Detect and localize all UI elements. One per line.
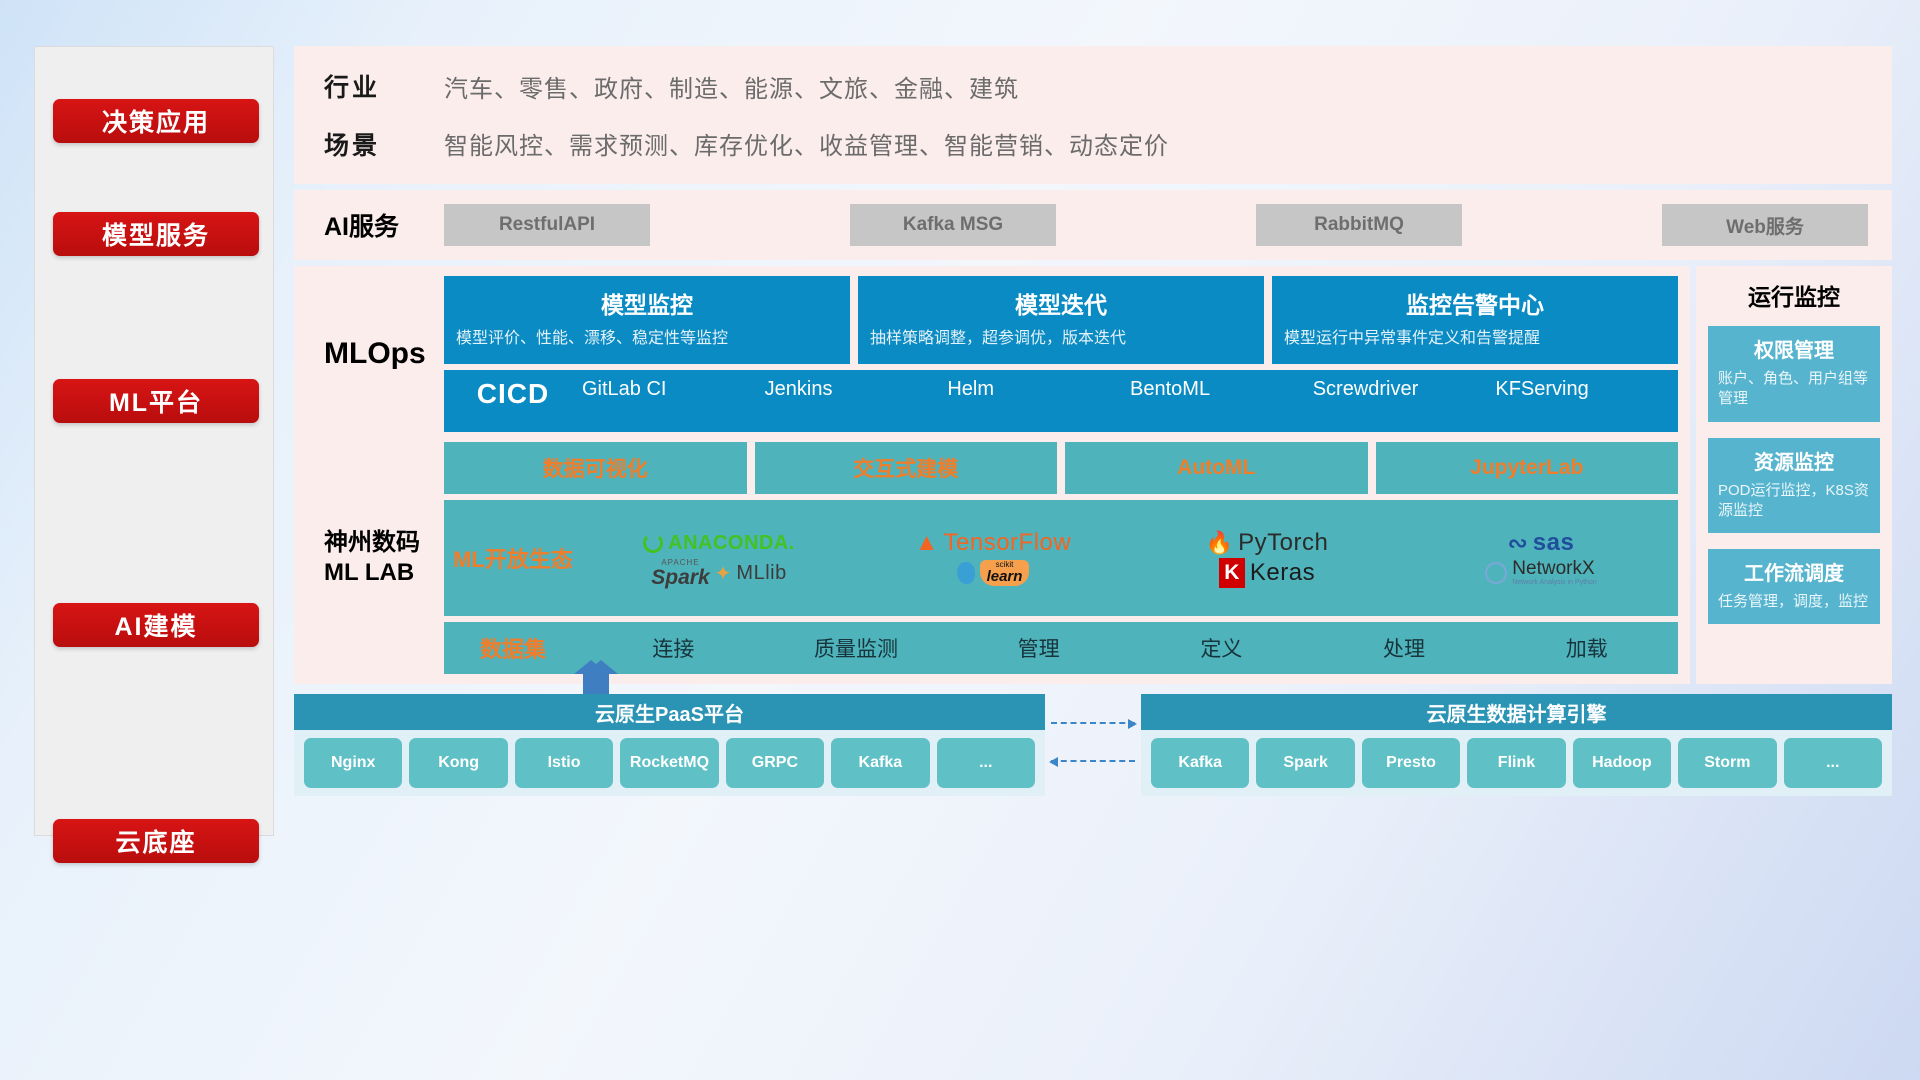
rail-tag-model-service[interactable]: 模型服务 bbox=[53, 212, 259, 256]
mlops-card-title: 监控告警中心 bbox=[1284, 286, 1666, 320]
anaconda-ring-icon bbox=[643, 533, 663, 553]
mlops-card-desc: 模型评价、性能、漂移、稳定性等监控 bbox=[456, 328, 838, 350]
rail-tag-ml-platform[interactable]: ML平台 bbox=[53, 379, 259, 423]
monitor-card-title: 工作流调度 bbox=[1718, 557, 1870, 586]
sas-swirl-icon: ∾ bbox=[1508, 529, 1528, 558]
paas-chip-kong[interactable]: Kong bbox=[409, 738, 507, 788]
paas-chip-more[interactable]: ... bbox=[937, 738, 1035, 788]
monitor-card-title: 权限管理 bbox=[1718, 334, 1870, 363]
monitor-card-desc: 账户、角色、用户组等管理 bbox=[1718, 369, 1870, 410]
networkx-graph-icon bbox=[1485, 562, 1507, 584]
dataset-item-quality[interactable]: 质量监测 bbox=[765, 633, 948, 663]
dataset-item-define[interactable]: 定义 bbox=[1130, 633, 1313, 663]
mllib-logo-text: MLlib bbox=[736, 562, 786, 585]
data-engine-title: 云原生数据计算引擎 bbox=[1141, 694, 1892, 730]
monitor-card-resource[interactable]: 资源监控 POD运行监控，K8S资源监控 bbox=[1708, 438, 1880, 534]
paas-chip-grpc[interactable]: GRPC bbox=[726, 738, 824, 788]
cicd-row: CICD GitLab CI Jenkins Helm BentoML Scre… bbox=[444, 370, 1678, 432]
layer-rail: 决策应用 模型服务 ML平台 AI建模 云底座 bbox=[34, 46, 274, 836]
scikit-learn-text: learn bbox=[987, 569, 1023, 584]
main-column: 行业 场景 汽车、零售、政府、制造、能源、文旅、金融、建筑 智能风控、需求预测、… bbox=[294, 46, 1892, 1050]
ml-ecosystem-label: ML开放生态 bbox=[444, 542, 582, 574]
anaconda-logo: ANACONDA. bbox=[643, 532, 795, 555]
dataset-item-process[interactable]: 处理 bbox=[1313, 633, 1496, 663]
arrow-left-icon bbox=[1051, 760, 1135, 762]
paas-chip-list: Nginx Kong Istio RocketMQ GRPC Kafka ... bbox=[294, 730, 1045, 796]
engine-chip-flink[interactable]: Flink bbox=[1467, 738, 1565, 788]
pytorch-flame-icon: 🔥 bbox=[1206, 532, 1233, 554]
pytorch-logo: 🔥 PyTorch bbox=[1206, 529, 1329, 557]
ml-ecosystem-row: ML开放生态 ANACONDA. ▲ TensorFlow bbox=[444, 500, 1678, 616]
spark-mllib-logo: APACHE Spark ✦ MLlib bbox=[651, 559, 786, 588]
engine-chip-storm[interactable]: Storm bbox=[1678, 738, 1776, 788]
modeling-tabs: 数据可视化 交互式建模 AutoML JupyterLab bbox=[444, 442, 1678, 494]
scikit-learn-pill: scikit learn bbox=[980, 560, 1030, 586]
industry-value: 汽车、零售、政府、制造、能源、文旅、金融、建筑 bbox=[444, 69, 1169, 104]
paas-chip-kafka[interactable]: Kafka bbox=[831, 738, 929, 788]
pytorch-logo-text: PyTorch bbox=[1238, 529, 1328, 557]
scikit-learn-logo: scikit learn bbox=[957, 560, 1030, 586]
engine-chip-presto[interactable]: Presto bbox=[1362, 738, 1460, 788]
dataset-label: 数据集 bbox=[444, 632, 582, 664]
engine-chip-spark[interactable]: Spark bbox=[1256, 738, 1354, 788]
industry-values: 汽车、零售、政府、制造、能源、文旅、金融、建筑 智能风控、需求预测、库存优化、收… bbox=[444, 69, 1169, 161]
monitor-card-title: 资源监控 bbox=[1718, 446, 1870, 475]
ai-service-chips: RestfulAPI Kafka MSG RabbitMQ Web服务 bbox=[444, 204, 1868, 246]
mlops-cards: 模型监控 模型评价、性能、漂移、稳定性等监控 模型迭代 抽样策略调整，超参调优，… bbox=[444, 276, 1678, 364]
cloud-base-section: 云原生PaaS平台 Nginx Kong Istio RocketMQ GRPC… bbox=[294, 694, 1892, 812]
paas-chip-rocketmq[interactable]: RocketMQ bbox=[620, 738, 718, 788]
tab-automl[interactable]: AutoML bbox=[1065, 442, 1368, 494]
paas-platform-block: 云原生PaaS平台 Nginx Kong Istio RocketMQ GRPC… bbox=[294, 694, 1045, 796]
tab-interactive-modeling[interactable]: 交互式建模 bbox=[755, 442, 1058, 494]
ai-chip-restfulapi[interactable]: RestfulAPI bbox=[444, 204, 650, 246]
scenario-label: 场景 bbox=[324, 126, 444, 162]
industry-label: 行业 bbox=[324, 68, 444, 104]
tensorflow-logo: ▲ TensorFlow bbox=[915, 529, 1071, 557]
mlops-card-title: 模型迭代 bbox=[870, 286, 1252, 320]
networkx-logo-text: NetworkX bbox=[1512, 559, 1596, 579]
ai-service-title: AI服务 bbox=[324, 207, 444, 243]
ai-chip-web-service[interactable]: Web服务 bbox=[1662, 204, 1868, 246]
cicd-item-bentoml[interactable]: BentoML bbox=[1130, 378, 1313, 401]
runtime-monitor-title: 运行监控 bbox=[1708, 278, 1880, 312]
mlops-section: MLOps 模型监控 模型评价、性能、漂移、稳定性等监控 模型迭代 抽样策略调整… bbox=[294, 266, 1892, 684]
keras-logo: K Keras bbox=[1219, 558, 1315, 588]
anaconda-logo-text: ANACONDA. bbox=[668, 532, 795, 555]
spark-logo-text: Spark bbox=[651, 567, 709, 588]
rail-tag-decision-app[interactable]: 决策应用 bbox=[53, 99, 259, 143]
monitor-card-permission[interactable]: 权限管理 账户、角色、用户组等管理 bbox=[1708, 326, 1880, 422]
mlops-band: MLOps 模型监控 模型评价、性能、漂移、稳定性等监控 模型迭代 抽样策略调整… bbox=[294, 266, 1690, 684]
mlops-card-desc: 模型运行中异常事件定义和告警提醒 bbox=[1284, 328, 1666, 350]
rail-tag-cloud-base[interactable]: 云底座 bbox=[53, 819, 259, 863]
mlops-card-model-monitor[interactable]: 模型监控 模型评价、性能、漂移、稳定性等监控 bbox=[444, 276, 850, 364]
modeling-title-line1: 神州数码 bbox=[324, 529, 420, 556]
dataset-item-connect[interactable]: 连接 bbox=[582, 633, 765, 663]
spark-star-icon: ✦ bbox=[715, 561, 732, 586]
paas-platform-title: 云原生PaaS平台 bbox=[294, 694, 1045, 730]
cicd-item-kfserving[interactable]: KFServing bbox=[1495, 378, 1678, 401]
scikit-blob-icon bbox=[957, 562, 975, 584]
networkx-logo: NetworkX Network Analysis in Python bbox=[1485, 559, 1596, 586]
runtime-monitor-panel: 运行监控 权限管理 账户、角色、用户组等管理 资源监控 POD运行监控，K8S资… bbox=[1696, 266, 1892, 684]
engine-chip-hadoop[interactable]: Hadoop bbox=[1573, 738, 1671, 788]
rail-tag-ai-modeling[interactable]: AI建模 bbox=[53, 603, 259, 647]
ai-service-band: AI服务 RestfulAPI Kafka MSG RabbitMQ Web服务 bbox=[294, 190, 1892, 260]
paas-chip-nginx[interactable]: Nginx bbox=[304, 738, 402, 788]
modeling-band: 神州数码 ML LAB 数据可视化 交互式建模 AutoML JupyterLa… bbox=[324, 442, 1678, 674]
paas-chip-istio[interactable]: Istio bbox=[515, 738, 613, 788]
mlops-card-alert-center[interactable]: 监控告警中心 模型运行中异常事件定义和告警提醒 bbox=[1272, 276, 1678, 364]
sas-logo-text: sas bbox=[1533, 529, 1575, 557]
modeling-title-line2: ML LAB bbox=[324, 559, 414, 586]
monitor-card-workflow[interactable]: 工作流调度 任务管理，调度，监控 bbox=[1708, 549, 1880, 624]
mlops-title: MLOps bbox=[324, 276, 444, 432]
keras-logo-text: Keras bbox=[1250, 559, 1315, 587]
mlops-card-title: 模型监控 bbox=[456, 286, 838, 320]
cicd-item-helm[interactable]: Helm bbox=[947, 378, 1130, 401]
arrow-right-icon bbox=[1051, 722, 1135, 724]
engine-up-arrow-icon bbox=[584, 660, 618, 694]
sas-logo: ∾ sas bbox=[1508, 529, 1575, 558]
dataset-item-load[interactable]: 加载 bbox=[1495, 633, 1678, 663]
engine-chip-more[interactable]: ... bbox=[1784, 738, 1882, 788]
mlops-card-model-iteration[interactable]: 模型迭代 抽样策略调整，超参调优，版本迭代 bbox=[858, 276, 1264, 364]
industry-scenario-band: 行业 场景 汽车、零售、政府、制造、能源、文旅、金融、建筑 智能风控、需求预测、… bbox=[294, 46, 1892, 184]
engine-chip-list: Kafka Spark Presto Flink Hadoop Storm ..… bbox=[1141, 730, 1892, 796]
ai-chip-kafka-msg[interactable]: Kafka MSG bbox=[850, 204, 1056, 246]
tab-data-visualization[interactable]: 数据可视化 bbox=[444, 442, 747, 494]
tensorflow-logo-text: TensorFlow bbox=[944, 529, 1072, 557]
monitor-card-desc: 任务管理，调度，监控 bbox=[1718, 592, 1870, 612]
ai-chip-rabbitmq[interactable]: RabbitMQ bbox=[1256, 204, 1462, 246]
keras-k-icon: K bbox=[1219, 558, 1245, 588]
cicd-item-gitlab-ci[interactable]: GitLab CI bbox=[582, 378, 765, 401]
engine-chip-kafka[interactable]: Kafka bbox=[1151, 738, 1249, 788]
monitor-card-desc: POD运行监控，K8S资源监控 bbox=[1718, 481, 1870, 522]
dataset-row: 数据集 连接 质量监测 管理 定义 处理 加载 bbox=[444, 622, 1678, 674]
tab-jupyterlab[interactable]: JupyterLab bbox=[1376, 442, 1679, 494]
scenario-value: 智能风控、需求预测、库存优化、收益管理、智能营销、动态定价 bbox=[444, 126, 1169, 161]
data-engine-block: 云原生数据计算引擎 Kafka Spark Presto Flink Hadoo… bbox=[1141, 694, 1892, 796]
cicd-label: CICD bbox=[444, 378, 582, 410]
mlops-card-desc: 抽样策略调整，超参调优，版本迭代 bbox=[870, 328, 1252, 350]
networkx-subtitle: Network Analysis in Python bbox=[1512, 579, 1596, 586]
modeling-title: 神州数码 ML LAB bbox=[324, 442, 444, 674]
architecture-diagram: 决策应用 模型服务 ML平台 AI建模 云底座 行业 场景 汽车、零售、政府、制… bbox=[0, 0, 1920, 1080]
cicd-item-screwdriver[interactable]: Screwdriver bbox=[1313, 378, 1496, 401]
tensorflow-mark-icon: ▲ bbox=[915, 531, 939, 555]
industry-labels: 行业 场景 bbox=[324, 68, 444, 162]
cicd-item-jenkins[interactable]: Jenkins bbox=[765, 378, 948, 401]
dataset-item-manage[interactable]: 管理 bbox=[947, 633, 1130, 663]
